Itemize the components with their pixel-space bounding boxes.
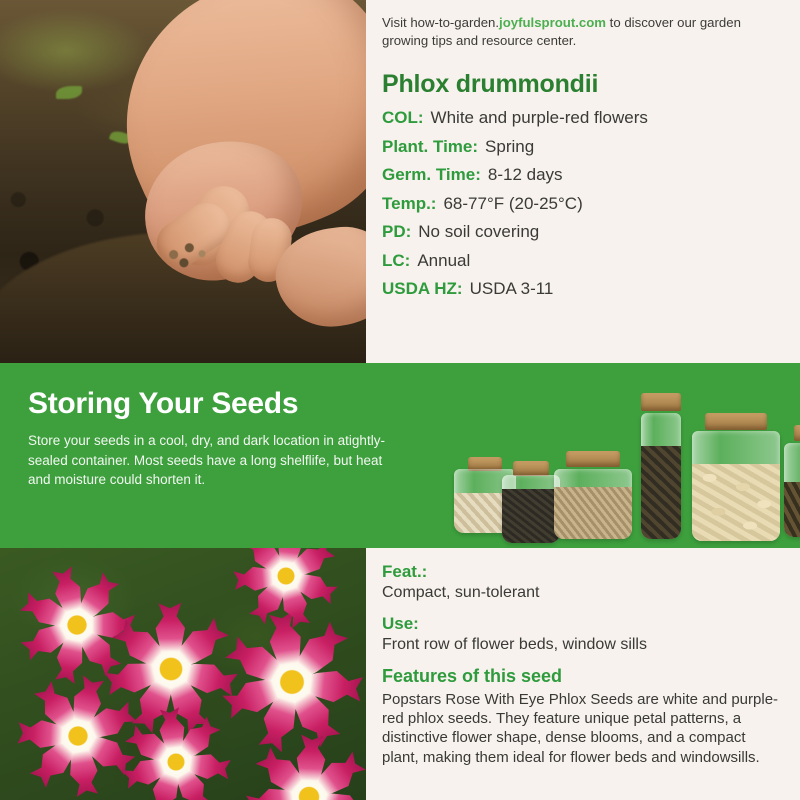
flower-center xyxy=(271,661,313,703)
glass-body xyxy=(641,413,681,539)
flower-center xyxy=(151,649,191,689)
spec-value: USDA 3-11 xyxy=(470,279,554,299)
phlox-bloom xyxy=(234,548,338,628)
phlox-bloom xyxy=(246,734,366,800)
spec-value: 8-12 days xyxy=(488,165,563,185)
seed-packet-infographic: Visit how-to-garden.joyfulsprout.com to … xyxy=(0,0,800,800)
glass-body xyxy=(554,469,632,539)
spec-row-lc: LC: Annual xyxy=(382,251,794,271)
features-body: Popstars Rose With Eye Phlox Seeds are w… xyxy=(382,690,786,767)
seed-jar xyxy=(638,393,684,539)
spec-key: COL: xyxy=(382,108,424,128)
spec-value: Annual xyxy=(417,251,470,271)
storage-body: Store your seeds in a cool, dry, and dar… xyxy=(28,431,388,490)
flower-center xyxy=(61,719,95,753)
storage-title: Storing Your Seeds xyxy=(28,389,388,419)
phlox-flowers-photo xyxy=(0,548,366,800)
feature-value: Compact, sun-tolerant xyxy=(382,584,539,602)
spec-row-usda-hz: USDA HZ: USDA 3-11 xyxy=(382,279,794,299)
use-value: Front row of flower beds, window sills xyxy=(382,636,647,654)
intro-text: Visit how-to-garden.joyfulsprout.com to … xyxy=(382,14,782,50)
seed-jar xyxy=(782,425,800,537)
spec-value: Spring xyxy=(485,137,534,157)
seed-jar xyxy=(690,413,782,541)
storage-text-block: Storing Your Seeds Store your seeds in a… xyxy=(28,389,388,490)
seed-fill xyxy=(784,482,800,537)
spec-row-pd: PD: No soil covering xyxy=(382,222,794,242)
spec-key: Germ. Time: xyxy=(382,165,481,185)
flower-center xyxy=(271,561,301,591)
feature-label: Feat.: xyxy=(382,562,427,582)
features-heading: Features of this seed xyxy=(382,666,562,687)
seed-fill xyxy=(554,487,632,539)
phlox-bloom xyxy=(18,676,138,796)
spec-row-plant-time: Plant. Time: Spring xyxy=(382,137,794,157)
cork-lid xyxy=(705,413,767,430)
hand-sowing-seeds-photo xyxy=(0,0,366,363)
seed-fill xyxy=(692,464,780,541)
seed-jar xyxy=(552,451,634,539)
specifications-panel: Visit how-to-garden.joyfulsprout.com to … xyxy=(366,0,800,363)
spec-key: Temp.: xyxy=(382,194,436,214)
cork-lid xyxy=(513,461,549,476)
plant-name-title: Phlox drummondii xyxy=(382,70,598,99)
use-label: Use: xyxy=(382,614,419,634)
spec-row-col: COL: White and purple-red flowers xyxy=(382,108,794,128)
spec-value: White and purple-red flowers xyxy=(431,108,648,128)
flower-center xyxy=(60,608,94,642)
spec-row-germ-time: Germ. Time: 8-12 days xyxy=(382,165,794,185)
glass-body xyxy=(784,443,800,537)
cork-lid xyxy=(794,425,800,441)
spec-value: 68-77°F (20-25°C) xyxy=(443,194,582,214)
glass-body xyxy=(692,431,780,541)
flower-center xyxy=(161,747,191,777)
cork-lid xyxy=(641,393,681,411)
spec-key: PD: xyxy=(382,222,411,242)
storage-band: Storing Your Seeds Store your seeds in a… xyxy=(0,363,800,548)
spec-row-temp: Temp.: 68-77°F (20-25°C) xyxy=(382,194,794,214)
seed-fill xyxy=(641,446,681,539)
seed-jars-illustration xyxy=(452,371,792,543)
details-panel: Feat.: Compact, sun-tolerant Use: Front … xyxy=(366,548,800,800)
website-link[interactable]: joyfulsprout.com xyxy=(499,15,606,30)
spec-key: Plant. Time: xyxy=(382,137,478,157)
cork-lid xyxy=(566,451,620,467)
spec-key: USDA HZ: xyxy=(382,279,463,299)
intro-before: Visit how-to-garden. xyxy=(382,15,499,30)
spec-value: No soil covering xyxy=(418,222,539,242)
phlox-bloom xyxy=(122,708,230,800)
spec-list: COL: White and purple-red flowers Plant.… xyxy=(382,108,794,308)
phlox-bloom xyxy=(222,612,362,752)
spec-key: LC: xyxy=(382,251,410,271)
